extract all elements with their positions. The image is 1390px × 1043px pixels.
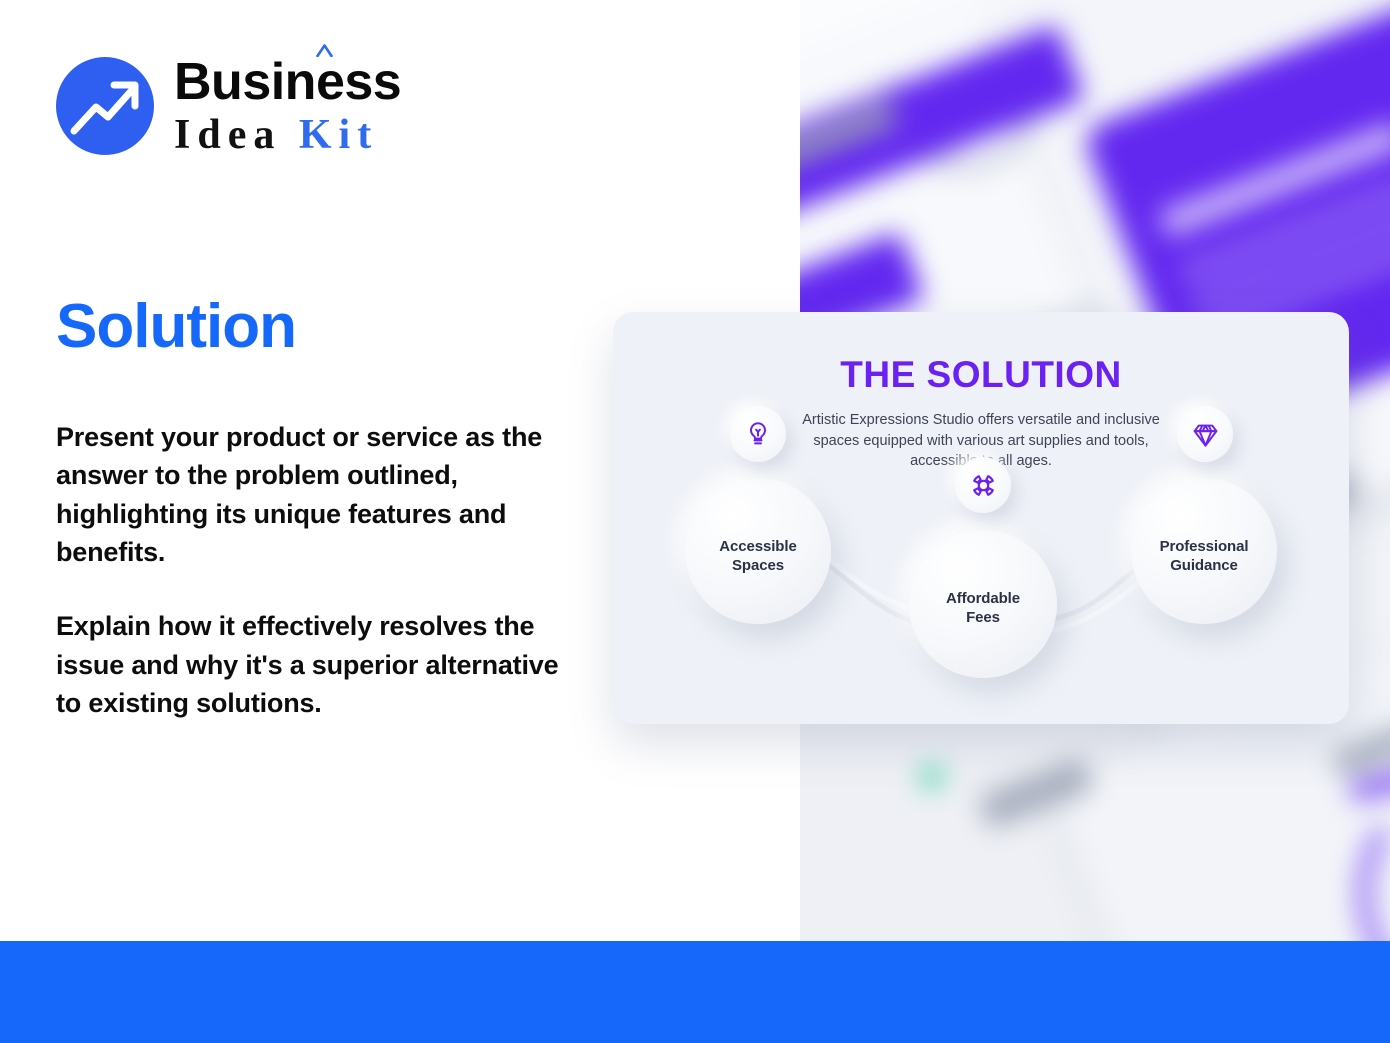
node-label: Professional Guidance	[1131, 538, 1277, 576]
page-title: Solution	[56, 296, 296, 358]
slide-root: Business Idea Kit Solution Present your …	[0, 0, 1390, 1043]
caret-accent-icon	[316, 44, 333, 57]
footer-accent-bar	[0, 941, 1390, 1043]
node-label-line1: Affordable	[946, 590, 1020, 607]
lifebuoy-icon	[955, 457, 1011, 513]
brand-idea-text: Idea	[174, 112, 299, 158]
body-paragraph-1: Present your product or service as the a…	[56, 418, 586, 571]
brand-logo: Business Idea Kit	[56, 56, 401, 156]
bg-dot	[921, 766, 943, 788]
node-label: Accessible Spaces	[685, 538, 831, 576]
brand-wordmark: Business Idea Kit	[174, 56, 401, 156]
solution-nodes-group: Accessible Spaces Affordab	[613, 312, 1349, 642]
body-copy: Present your product or service as the a…	[56, 418, 586, 722]
body-paragraph-2: Explain how it effectively resolves the …	[56, 607, 586, 722]
solution-card: THE SOLUTION Artistic Expressions Studio…	[613, 312, 1349, 724]
brand-name-line1: Business	[174, 56, 401, 108]
node-label-line2: Spaces	[732, 557, 784, 574]
diamond-icon	[1177, 406, 1233, 462]
node-label: Affordable Fees	[909, 590, 1057, 628]
node-label-line2: Fees	[966, 609, 1000, 626]
brand-name-text: Business	[174, 53, 401, 111]
node-label-line2: Guidance	[1170, 557, 1238, 574]
node-label-line1: Accessible	[719, 538, 796, 555]
bg-text-line	[1158, 121, 1390, 237]
brand-kit-text: Kit	[299, 112, 378, 158]
brand-name-line2: Idea Kit	[174, 114, 401, 156]
trend-arrow-circle-icon	[56, 57, 154, 155]
lightbulb-icon	[730, 406, 786, 462]
node-label-line1: Professional	[1160, 538, 1249, 555]
